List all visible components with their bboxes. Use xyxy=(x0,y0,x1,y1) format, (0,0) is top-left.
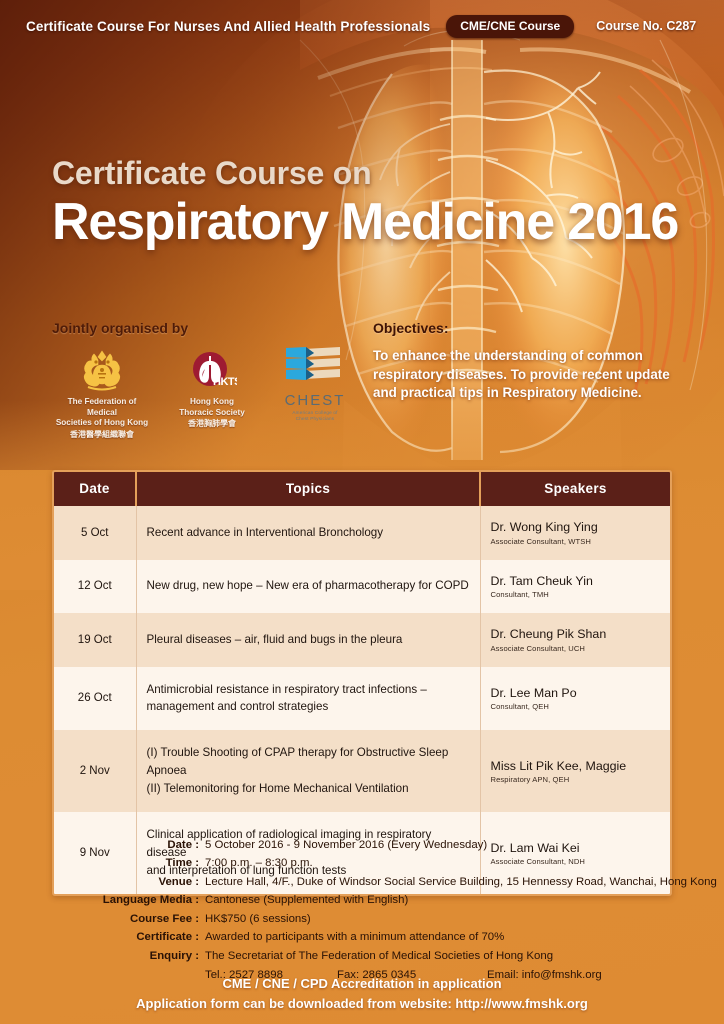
cell-date: 19 Oct xyxy=(54,613,136,667)
cell-topic: Pleural diseases – air, fluid and bugs i… xyxy=(136,613,480,667)
detail-label: Course Fee : xyxy=(0,910,205,928)
detail-label: Enquiry : xyxy=(0,947,205,965)
course-number-label: Course No. C287 xyxy=(596,19,696,33)
detail-value: Lecture Hall, 4/F., Duke of Windsor Soci… xyxy=(205,873,717,891)
cell-topic: New drug, new hope – New era of pharmaco… xyxy=(136,560,480,614)
table-header-row: Date Topics Speakers xyxy=(54,472,670,506)
hkts-caption: Hong Kong Thoracic Society 香港胸肺學會 xyxy=(162,397,262,429)
chest-wordmark: CHEST xyxy=(272,392,358,409)
table-row: 26 Oct Antimicrobial resistance in respi… xyxy=(54,667,670,731)
organiser-fmshk: The Federation of Medical Societies of H… xyxy=(52,348,152,440)
page-title: Respiratory Medicine 2016 xyxy=(52,194,678,250)
detail-row-venue: Venue : Lecture Hall, 4/F., Duke of Wind… xyxy=(0,873,724,891)
detail-label: Language Media : xyxy=(0,891,205,909)
header-course-audience-title: Certificate Course For Nurses And Allied… xyxy=(26,19,430,34)
footer-accreditation-line: CME / CNE / CPD Accreditation in applica… xyxy=(0,974,724,994)
cell-date: 5 Oct xyxy=(54,506,136,560)
speaker-role: Associate Consultant, WTSH xyxy=(491,537,661,546)
topic-line: Pleural diseases – air, fluid and bugs i… xyxy=(147,631,470,649)
course-details-list: Date : 5 October 2016 - 9 November 2016 … xyxy=(0,836,724,985)
objectives-section: Objectives: To enhance the understanding… xyxy=(373,320,685,403)
detail-row-fee: Course Fee : HK$750 (6 sessions) xyxy=(0,910,724,928)
schedule-table-container: Date Topics Speakers 5 Oct Recent advanc… xyxy=(52,470,672,896)
speaker-name: Dr. Wong King Ying xyxy=(491,520,661,536)
fmshk-caption: The Federation of Medical Societies of H… xyxy=(52,397,152,440)
organisers-section: Jointly organised by xyxy=(52,320,362,440)
detail-row-date: Date : 5 October 2016 - 9 November 2016 … xyxy=(0,836,724,854)
column-header-speakers: Speakers xyxy=(480,472,670,506)
cell-speaker: Dr. Cheung Pik Shan Associate Consultant… xyxy=(480,613,670,667)
hkts-name-line1: Hong Kong xyxy=(190,397,234,406)
speaker-role: Respiratory APN, QEH xyxy=(491,775,661,784)
detail-value: HK$750 (6 sessions) xyxy=(205,910,311,928)
fmshk-lion-crest-icon xyxy=(52,348,152,394)
cell-speaker: Miss Lit Pik Kee, Maggie Respiratory APN… xyxy=(480,730,670,812)
cell-speaker: Dr. Tam Cheuk Yin Consultant, TMH xyxy=(480,560,670,614)
detail-label: Time : xyxy=(0,854,205,872)
detail-value: Cantonese (Supplemented with English) xyxy=(205,891,408,909)
hkts-lungs-icon: HKTS xyxy=(162,348,262,394)
detail-value: The Secretariat of The Federation of Med… xyxy=(205,947,553,965)
detail-label: Date : xyxy=(0,836,205,854)
organiser-logo-row: The Federation of Medical Societies of H… xyxy=(52,348,362,440)
table-row: 2 Nov (I) Trouble Shooting of CPAP thera… xyxy=(54,730,670,812)
detail-value: Awarded to participants with a minimum a… xyxy=(205,928,504,946)
hkts-name-line2: Thoracic Society xyxy=(179,408,245,417)
cme-cne-course-badge: CME/CNE Course xyxy=(446,15,574,38)
chest-tagline-line2: Chest Physicians xyxy=(296,416,334,421)
speaker-role: Associate Consultant, UCH xyxy=(491,644,661,653)
header-bar: Certificate Course For Nurses And Allied… xyxy=(0,0,724,52)
topic-line: management and control strategies xyxy=(147,698,470,716)
footer-application-line[interactable]: Application form can be downloaded from … xyxy=(0,994,724,1014)
chest-tagline-line1: American College of xyxy=(292,410,337,415)
fmshk-name-line2: Societies of Hong Kong xyxy=(56,418,148,427)
table-row: 12 Oct New drug, new hope – New era of p… xyxy=(54,560,670,614)
cell-topic: Recent advance in Interventional Broncho… xyxy=(136,506,480,560)
hkts-name-zh: 香港胸肺學會 xyxy=(162,419,262,429)
schedule-table: Date Topics Speakers 5 Oct Recent advanc… xyxy=(54,472,670,894)
topic-line: Antimicrobial resistance in respiratory … xyxy=(147,681,470,699)
speaker-name: Miss Lit Pik Kee, Maggie xyxy=(491,759,661,775)
speaker-role: Consultant, QEH xyxy=(491,702,661,711)
topic-line: New drug, new hope – New era of pharmaco… xyxy=(147,577,470,595)
organisers-heading: Jointly organised by xyxy=(52,320,362,336)
footer-accreditation: CME / CNE / CPD Accreditation in applica… xyxy=(0,974,724,1014)
detail-value: 7:00 p.m. – 8:30 p.m. xyxy=(205,854,313,872)
fmshk-name-zh: 香港醫學組織聯會 xyxy=(52,430,152,440)
chest-logo-icon xyxy=(272,344,358,390)
cell-date: 26 Oct xyxy=(54,667,136,731)
detail-row-certificate: Certificate : Awarded to participants wi… xyxy=(0,928,724,946)
organiser-hkts: HKTS Hong Kong Thoracic Society 香港胸肺學會 xyxy=(162,348,262,429)
fmshk-name-line1: The Federation of Medical xyxy=(68,397,137,417)
detail-row-time: Time : 7:00 p.m. – 8:30 p.m. xyxy=(0,854,724,872)
speaker-name: Dr. Tam Cheuk Yin xyxy=(491,574,661,590)
poster-root: Certificate Course For Nurses And Allied… xyxy=(0,0,724,1024)
detail-label: Certificate : xyxy=(0,928,205,946)
svg-text:HKTS: HKTS xyxy=(213,376,237,388)
objectives-heading: Objectives: xyxy=(373,320,685,336)
detail-row-enquiry: Enquiry : The Secretariat of The Federat… xyxy=(0,947,724,965)
cell-topic: Antimicrobial resistance in respiratory … xyxy=(136,667,480,731)
column-header-topics: Topics xyxy=(136,472,480,506)
detail-value: 5 October 2016 - 9 November 2016 (Every … xyxy=(205,836,487,854)
topic-line: (I) Trouble Shooting of CPAP therapy for… xyxy=(147,744,470,780)
cell-speaker: Dr. Wong King Ying Associate Consultant,… xyxy=(480,506,670,560)
hero-title-block: Certificate Course on Respiratory Medici… xyxy=(52,155,678,250)
column-header-date: Date xyxy=(54,472,136,506)
chest-tagline: American College of Chest Physicians xyxy=(272,410,358,422)
cell-date: 12 Oct xyxy=(54,560,136,614)
cell-speaker: Dr. Lee Man Po Consultant, QEH xyxy=(480,667,670,731)
topic-line: Recent advance in Interventional Broncho… xyxy=(147,524,470,542)
cell-topic: (I) Trouble Shooting of CPAP therapy for… xyxy=(136,730,480,812)
hero-subtitle: Certificate Course on xyxy=(52,155,678,192)
organiser-chest: CHEST American College of Chest Physicia… xyxy=(272,344,358,422)
objectives-text: To enhance the understanding of common r… xyxy=(373,347,685,403)
table-row: 19 Oct Pleural diseases – air, fluid and… xyxy=(54,613,670,667)
detail-row-language: Language Media : Cantonese (Supplemented… xyxy=(0,891,724,909)
table-row: 5 Oct Recent advance in Interventional B… xyxy=(54,506,670,560)
topic-line: (II) Telemonitoring for Home Mechanical … xyxy=(147,780,470,798)
detail-label: Venue : xyxy=(0,873,205,891)
speaker-role: Consultant, TMH xyxy=(491,590,661,599)
speaker-name: Dr. Lee Man Po xyxy=(491,686,661,702)
cell-date: 2 Nov xyxy=(54,730,136,812)
speaker-name: Dr. Cheung Pik Shan xyxy=(491,627,661,643)
